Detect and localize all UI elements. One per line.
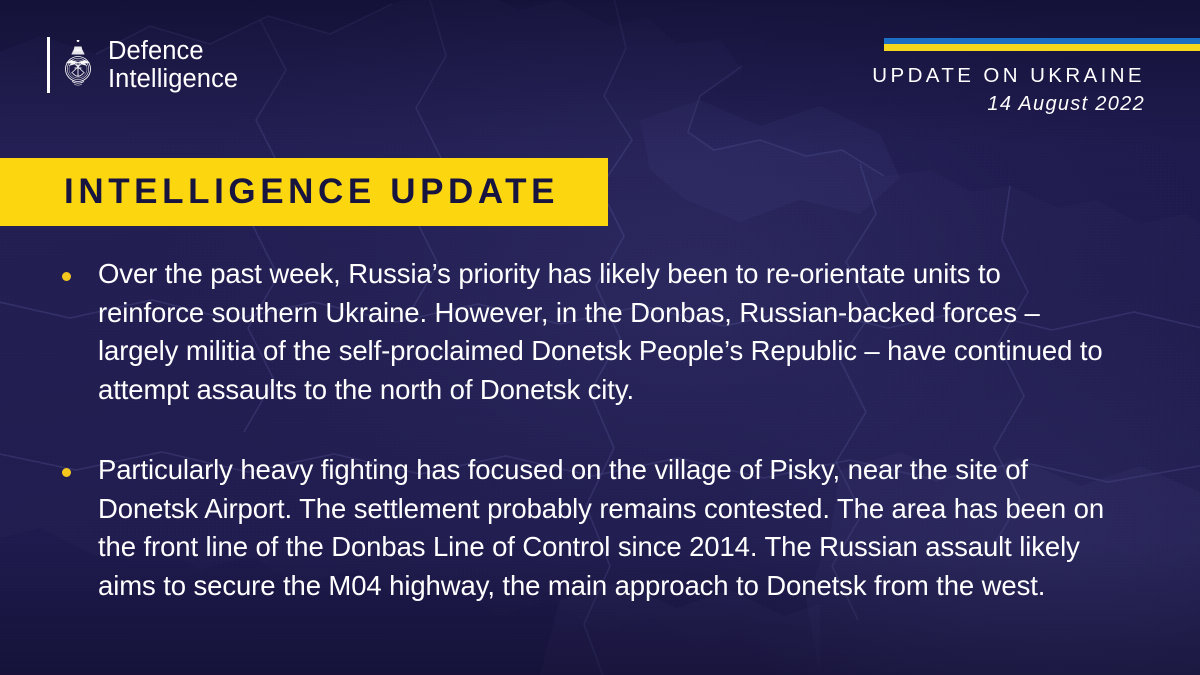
list-item: Particularly heavy fighting has focused … [62, 451, 1142, 605]
brand-line-defence: Defence [108, 37, 238, 65]
header-text-block: UPDATE ON UKRAINE 14 August 2022 [872, 36, 1145, 116]
list-item: Over the past week, Russia’s priority ha… [62, 255, 1142, 409]
intelligence-update-banner: INTELLIGENCE UPDATE [0, 158, 608, 226]
bullet-text: Over the past week, Russia’s priority ha… [98, 255, 1108, 409]
banner-label: INTELLIGENCE UPDATE [64, 172, 559, 212]
uk-defence-intelligence-crest-icon [61, 40, 95, 90]
update-title: UPDATE ON UKRAINE [872, 64, 1145, 88]
update-date: 14 August 2022 [872, 93, 1145, 116]
brand-line-intelligence: Intelligence [108, 65, 238, 93]
brand-vertical-rule [47, 37, 50, 93]
brand-wordmark: Defence Intelligence [108, 37, 238, 93]
bullet-list: Over the past week, Russia’s priority ha… [62, 255, 1142, 647]
bullet-dot-icon [62, 272, 71, 281]
intelligence-update-poster: Defence Intelligence UPDATE ON UKRAINE 1… [0, 0, 1200, 675]
brand-lockup: Defence Intelligence [47, 36, 238, 94]
bullet-text: Particularly heavy fighting has focused … [98, 451, 1108, 605]
bullet-dot-icon [62, 468, 71, 477]
